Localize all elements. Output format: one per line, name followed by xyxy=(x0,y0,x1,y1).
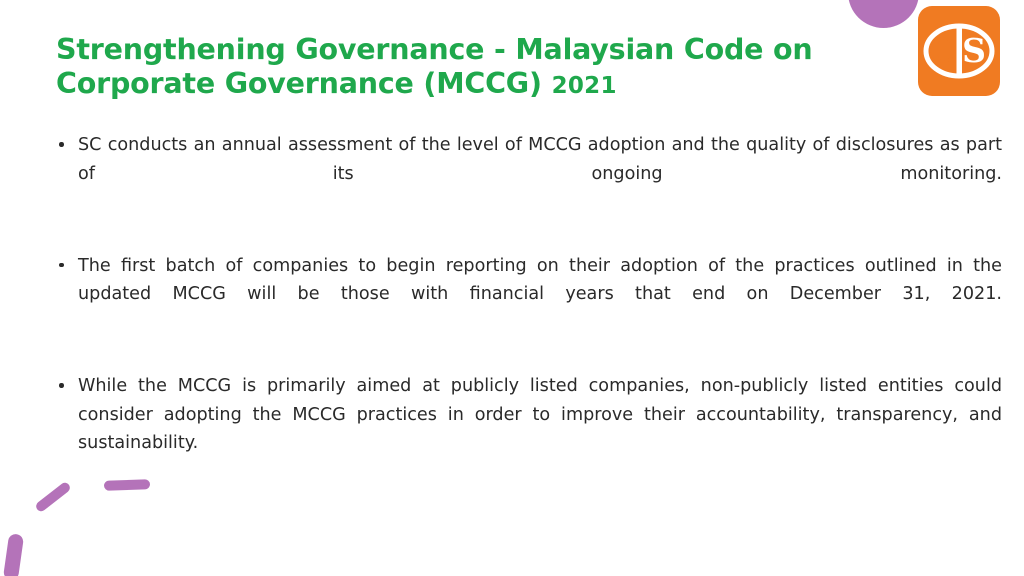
bullet-text: The first batch of companies to begin re… xyxy=(78,252,1002,338)
presentation-slide: C S Strengthening Governance - Malaysian… xyxy=(0,0,1024,576)
bullet-dot-icon xyxy=(59,142,64,147)
bullet-item: While the MCCG is primarily aimed at pub… xyxy=(56,372,1002,486)
slide-title-line2: Corporate Governance (MCCG) xyxy=(56,67,542,100)
svg-text:S: S xyxy=(962,31,986,70)
cs-logo: C S xyxy=(918,6,1000,96)
slide-body: SC conducts an annual assessment of the … xyxy=(56,131,1002,486)
bullet-dot-icon xyxy=(59,383,64,388)
bullet-text: While the MCCG is primarily aimed at pub… xyxy=(78,372,1002,486)
slide-title-line1: Strengthening Governance - Malaysian Cod… xyxy=(56,33,812,66)
bullet-dot-icon xyxy=(59,263,64,268)
bullet-item: The first batch of companies to begin re… xyxy=(56,252,1002,338)
slide-title-year: 2021 xyxy=(552,73,617,99)
purple-dash-decoration-bottom xyxy=(3,533,24,576)
purple-dash-decoration-top xyxy=(104,479,150,491)
purple-semicircle-decoration xyxy=(848,0,919,28)
bullet-item: SC conducts an annual assessment of the … xyxy=(56,131,1002,217)
purple-dash-decoration-middle xyxy=(34,481,72,514)
bullet-text: SC conducts an annual assessment of the … xyxy=(78,131,1002,217)
svg-text:C: C xyxy=(929,31,955,70)
slide-title: Strengthening Governance - Malaysian Cod… xyxy=(56,33,856,103)
